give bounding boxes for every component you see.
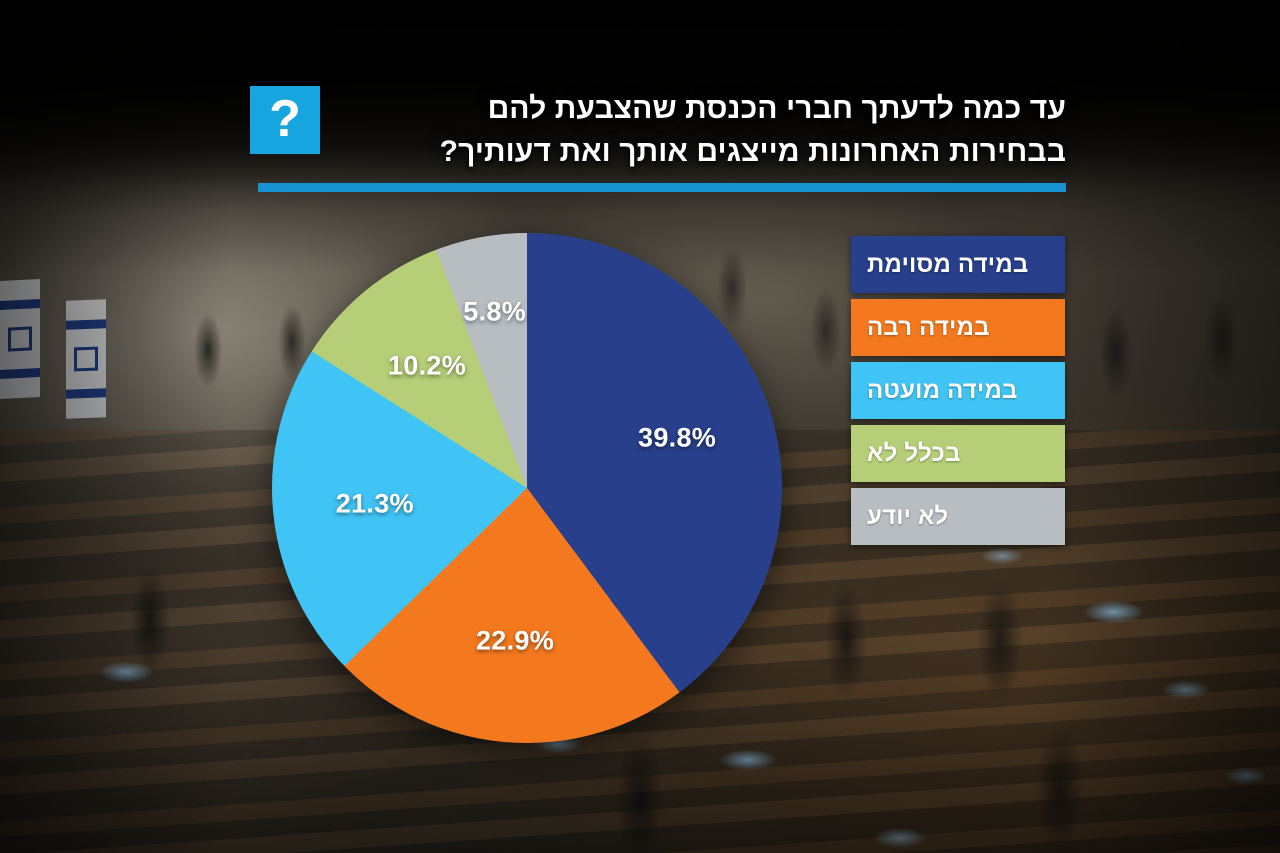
header: עד כמה לדעתך חברי הכנסת שהצבעת להם בבחיר… xyxy=(250,84,1066,196)
pie-slice-label: 21.3% xyxy=(336,488,414,519)
legend-item[interactable]: לא יודע xyxy=(851,488,1065,545)
infographic-root: עד כמה לדעתך חברי הכנסת שהצבעת להם בבחיר… xyxy=(0,0,1280,853)
legend-item[interactable]: במידה מועטה xyxy=(851,362,1065,419)
question-mark-icon: ? xyxy=(250,86,320,154)
header-underline xyxy=(258,183,1066,192)
pie-slice-label: 22.9% xyxy=(476,625,554,656)
legend-item-label: בכלל לא xyxy=(867,440,961,468)
pie-slice-label: 10.2% xyxy=(388,350,466,381)
pie-slice-label: 5.8% xyxy=(463,297,526,328)
pie-chart: 39.8%22.9%21.3%10.2%5.8% xyxy=(272,233,782,743)
chart-legend: במידה מסוימתבמידה רבהבמידה מועטהבכלל לאל… xyxy=(851,236,1065,545)
legend-item-label: במידה מועטה xyxy=(867,377,1018,405)
legend-item[interactable]: במידה מסוימת xyxy=(851,236,1065,293)
legend-item-label: במידה מסוימת xyxy=(867,251,1028,279)
legend-item[interactable]: במידה רבה xyxy=(851,299,1065,356)
page-title: עד כמה לדעתך חברי הכנסת שהצבעת להם בבחיר… xyxy=(334,84,1066,173)
legend-item-label: במידה רבה xyxy=(867,314,990,342)
legend-item[interactable]: בכלל לא xyxy=(851,425,1065,482)
pie-slice-label: 39.8% xyxy=(638,423,716,454)
legend-item-label: לא יודע xyxy=(867,503,948,531)
